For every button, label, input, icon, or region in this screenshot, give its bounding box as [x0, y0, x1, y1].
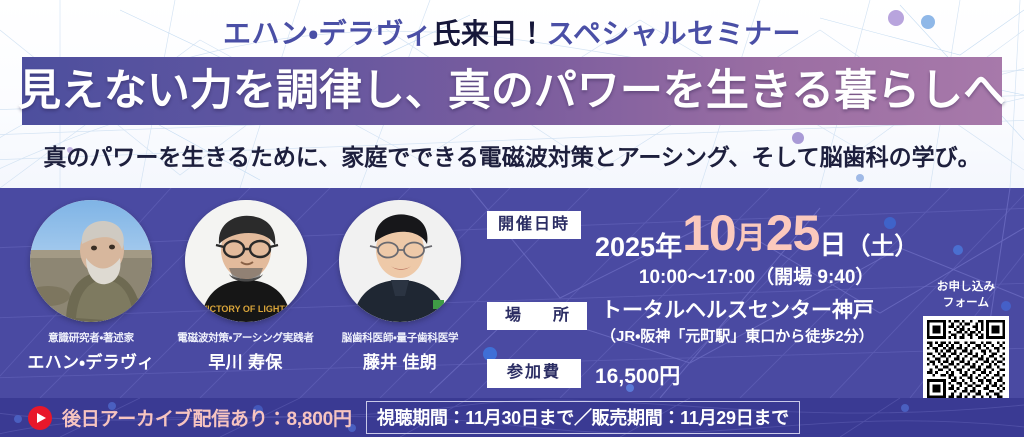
speaker-role: 脳歯科医師・量子歯科医学 — [327, 330, 473, 345]
date-year: 2025年 — [595, 232, 682, 262]
page-title: 見えない力を調律し、真のパワーを生きる暮らしへ — [18, 70, 1006, 113]
bottom-bar: 後日アーカイブ配信あり：8,800円 視聴期間：11月30日まで／販売期間：11… — [0, 398, 1024, 437]
event-info: 開催日時 2025年10月25日（土） 10:00〜17:00（開場 9:40）… — [487, 208, 917, 390]
date-day-unit: 日 — [819, 230, 846, 260]
play-icon[interactable] — [28, 406, 52, 430]
qr-label-line1: お申し込み — [916, 280, 1016, 296]
date-main: 2025年10月25日（土） — [595, 208, 918, 261]
speaker-name: 藤井 佳朗 — [327, 348, 473, 373]
hero-section: エハン・デラヴィ氏来日！スペシャルセミナー 見えない力を調律し、真のパワーを生き… — [0, 0, 1024, 188]
info-row-place: 場 所 トータルヘルスセンター神戸 （JR・阪神「元町駅」東口から徒歩2分） — [487, 299, 917, 346]
speaker-item: 意識研究者・著述家 エハン・デラヴィ — [18, 200, 164, 373]
application-form-block[interactable]: お申し込み フォーム — [916, 280, 1016, 398]
speaker-name: 早川 寿保 — [173, 348, 319, 373]
period-text: 視聴期間：11月30日まで／販売期間：11月29日まで — [366, 401, 800, 434]
venue-access: （JR・阪神「元町駅」東口から徒歩2分） — [601, 325, 874, 346]
kicker-post: スペシャルセミナー — [547, 19, 802, 50]
seminar-banner: エハン・デラヴィ氏来日！スペシャルセミナー 見えない力を調律し、真のパワーを生き… — [0, 0, 1024, 437]
kicker-pre: エハン・デラヴィ — [223, 19, 433, 50]
avatar — [339, 200, 461, 322]
speaker-item: 脳歯科医師・量子歯科医学 藤井 佳朗 — [327, 200, 473, 373]
date-label: 開催日時 — [487, 211, 581, 239]
date-value: 2025年10月25日（土） 10:00〜17:00（開場 9:40） — [595, 208, 918, 289]
info-row-fee: 参加費 16,500円 — [487, 356, 917, 390]
speaker-item: VICTORY OF LIGHT!! — [173, 200, 319, 373]
date-weekday: （土） — [846, 233, 918, 260]
date-month-unit: 月 — [736, 222, 766, 255]
fee-amount: 16,500円 — [595, 360, 680, 390]
venue-name: トータルヘルスセンター神戸 — [601, 299, 874, 323]
place-label: 場 所 — [487, 302, 587, 330]
date-time: 10:00〜17:00（開場 9:40） — [595, 262, 918, 289]
avatar: VICTORY OF LIGHT!! — [185, 200, 307, 322]
speaker-list: 意識研究者・著述家 エハン・デラヴィ VICTORY OF LIGHT!! — [18, 200, 473, 390]
kicker-line: エハン・デラヴィ氏来日！スペシャルセミナー — [0, 12, 1024, 52]
archive-text: 後日アーカイブ配信あり：8,800円 — [62, 404, 352, 431]
main-panel: 意識研究者・著述家 エハン・デラヴィ VICTORY OF LIGHT!! — [0, 188, 1024, 398]
fee-label: 参加費 — [487, 359, 581, 387]
qr-code-icon[interactable] — [923, 316, 1009, 398]
place-value: トータルヘルスセンター神戸 （JR・阪神「元町駅」東口から徒歩2分） — [601, 299, 874, 346]
title-band: 見えない力を調律し、真のパワーを生きる暮らしへ — [22, 57, 1002, 125]
date-day: 25 — [766, 205, 820, 261]
fee-value: 16,500円 — [595, 356, 680, 390]
lead-text: 真のパワーを生きるために、家庭でできる電磁波対策とアーシング、そして脳歯科の学び… — [0, 138, 1024, 172]
avatar — [30, 200, 152, 322]
qr-label-line2: フォーム — [916, 296, 1016, 312]
kicker-highlight: 氏来日！ — [432, 19, 546, 50]
date-month: 10 — [682, 205, 736, 261]
speaker-name: エハン・デラヴィ — [18, 348, 164, 373]
info-row-date: 開催日時 2025年10月25日（土） 10:00〜17:00（開場 9:40） — [487, 208, 917, 289]
speaker-role: 電磁波対策・アーシング実践者 — [173, 330, 319, 345]
speaker-role: 意識研究者・著述家 — [18, 330, 164, 345]
svg-text:VICTORY OF LIGHT!!: VICTORY OF LIGHT!! — [201, 304, 291, 314]
qr-label: お申し込み フォーム — [916, 280, 1016, 311]
